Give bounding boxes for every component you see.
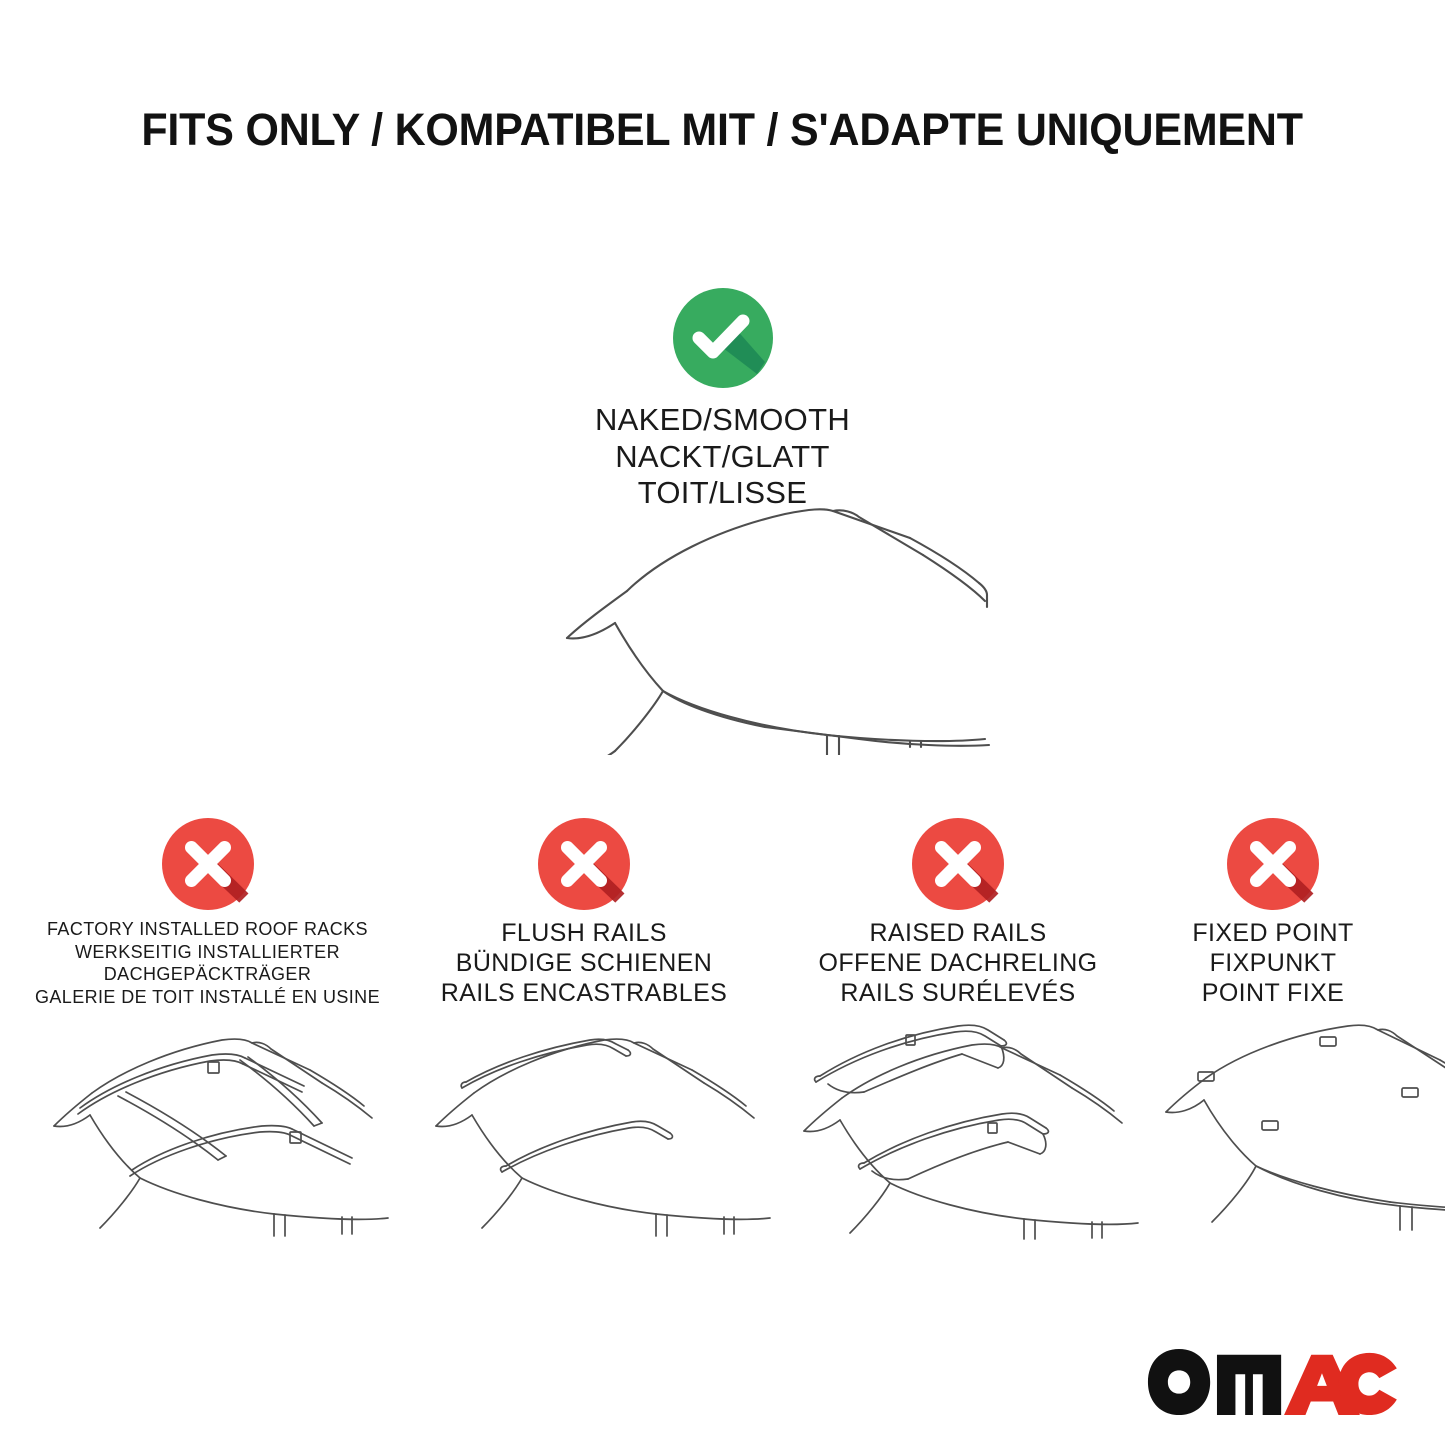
incompatible-label-en: FIXED POINT [1148, 918, 1398, 948]
incompatible-item-fixed-point: FIXED POINT FIXPUNKT POINT FIXE [1148, 818, 1398, 1008]
smooth-roof-illustration [455, 495, 1015, 755]
incompatible-labels: FLUSH RAILS BÜNDIGE SCHIENEN RAILS ENCAS… [410, 918, 758, 1008]
cross-circle-icon [912, 818, 1004, 910]
page-title: FITS ONLY / KOMPATIBEL MIT / S'ADAPTE UN… [0, 104, 1445, 156]
incompatible-labels: RAISED RAILS OFFENE DACHRELING RAILS SUR… [788, 918, 1128, 1008]
incompatible-labels: FACTORY INSTALLED ROOF RACKS WERKSEITIG … [10, 918, 405, 1009]
cross-circle-icon [538, 818, 630, 910]
omac-logo [1146, 1347, 1401, 1417]
compatible-label-en: NAKED/SMOOTH [0, 402, 1445, 439]
incompatible-label-de: FIXPUNKT [1148, 948, 1398, 978]
incompatible-item-raised-rails: RAISED RAILS OFFENE DACHRELING RAILS SUR… [788, 818, 1128, 1008]
factory-roof-rack-illustration [22, 1008, 422, 1243]
omac-logo-letter-o [1148, 1349, 1210, 1415]
incompatible-item-factory-roof-racks: FACTORY INSTALLED ROOF RACKS WERKSEITIG … [10, 818, 405, 1009]
incompatible-label-en: FLUSH RAILS [410, 918, 758, 948]
compatible-section: NAKED/SMOOTH NACKT/GLATT TOIT/LISSE [0, 288, 1445, 512]
incompatible-label-de: BÜNDIGE SCHIENEN [410, 948, 758, 978]
incompatible-label-fr: GALERIE DE TOIT INSTALLÉ EN USINE [10, 986, 405, 1009]
incompatible-label-de-2: DACHGEPÄCKTRÄGER [10, 963, 405, 986]
page-title-text: FITS ONLY / KOMPATIBEL MIT / S'ADAPTE UN… [142, 104, 1303, 156]
check-circle-icon [673, 288, 773, 388]
incompatible-labels: FIXED POINT FIXPUNKT POINT FIXE [1148, 918, 1398, 1008]
omac-logo-letter-c [1339, 1353, 1397, 1415]
incompatible-label-fr: POINT FIXE [1148, 978, 1398, 1008]
flush-rails-illustration [404, 1008, 804, 1243]
incompatible-item-flush-rails: FLUSH RAILS BÜNDIGE SCHIENEN RAILS ENCAS… [410, 818, 758, 1008]
incompatible-label-fr: RAILS SURÉLEVÉS [788, 978, 1128, 1008]
incompatible-label-fr: RAILS ENCASTRABLES [410, 978, 758, 1008]
cross-circle-icon [162, 818, 254, 910]
cross-circle-icon [1227, 818, 1319, 910]
incompatible-label-de-1: WERKSEITIG INSTALLIERTER [10, 941, 405, 964]
incompatible-label-en: FACTORY INSTALLED ROOF RACKS [10, 918, 405, 941]
fixed-point-illustration [1140, 1008, 1445, 1243]
incompatible-label-en: RAISED RAILS [788, 918, 1128, 948]
omac-logo-letter-m [1217, 1355, 1281, 1415]
incompatible-label-de: OFFENE DACHRELING [788, 948, 1128, 978]
compatible-label-de: NACKT/GLATT [0, 439, 1445, 476]
raised-rails-illustration [772, 1008, 1172, 1243]
